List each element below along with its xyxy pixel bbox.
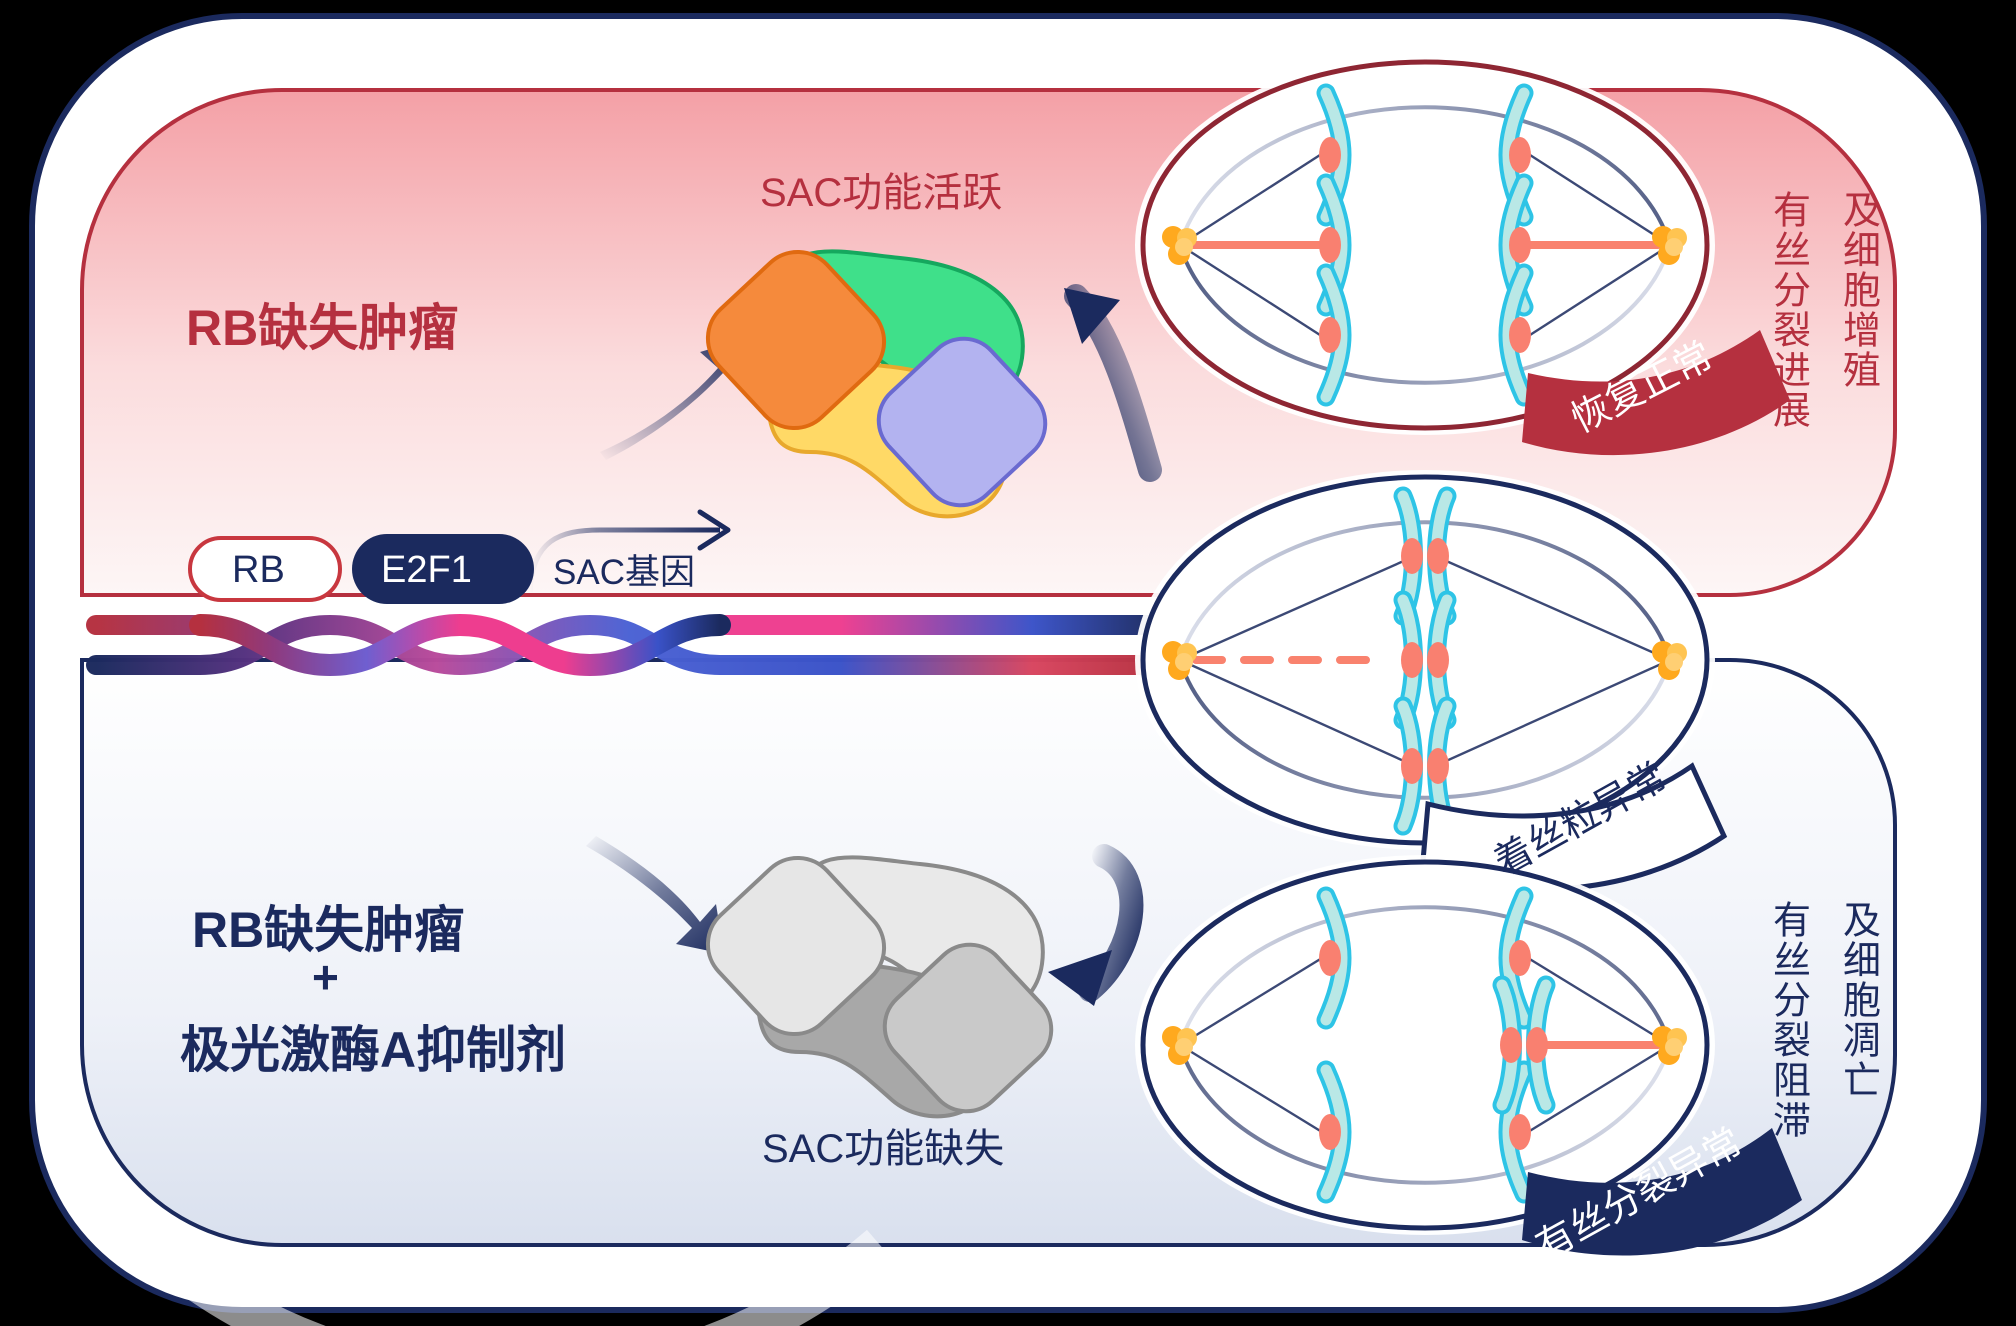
gene-chip-rb-label: RB: [232, 549, 285, 592]
bottom-side-text-col2: 及细胞凋亡: [1836, 900, 1879, 1100]
bottom-panel-label-plus: +: [312, 950, 339, 1004]
top-side-text-col1: 有丝分裂进展: [1766, 190, 1809, 430]
sac-gene-arrow-label: SAC基因: [553, 544, 695, 595]
figure-canvas: RB缺失肿瘤 SAC功能活跃 RB E2F1 SAC基因 有丝分裂进展 及细胞增…: [0, 0, 2016, 1326]
sac-active-label: SAC功能活跃: [760, 160, 1002, 218]
bottom-side-text-col1: 有丝分裂阻滞: [1766, 900, 1809, 1140]
sac-lost-label: SAC功能缺失: [762, 1116, 1004, 1174]
top-panel-label: RB缺失肿瘤: [186, 288, 458, 360]
top-side-text-col2: 及细胞增殖: [1836, 190, 1879, 390]
bottom-panel-label-line2: 极光激酶A抑制剂: [180, 1010, 566, 1082]
gene-chip-e2f1-label: E2F1: [381, 549, 472, 592]
